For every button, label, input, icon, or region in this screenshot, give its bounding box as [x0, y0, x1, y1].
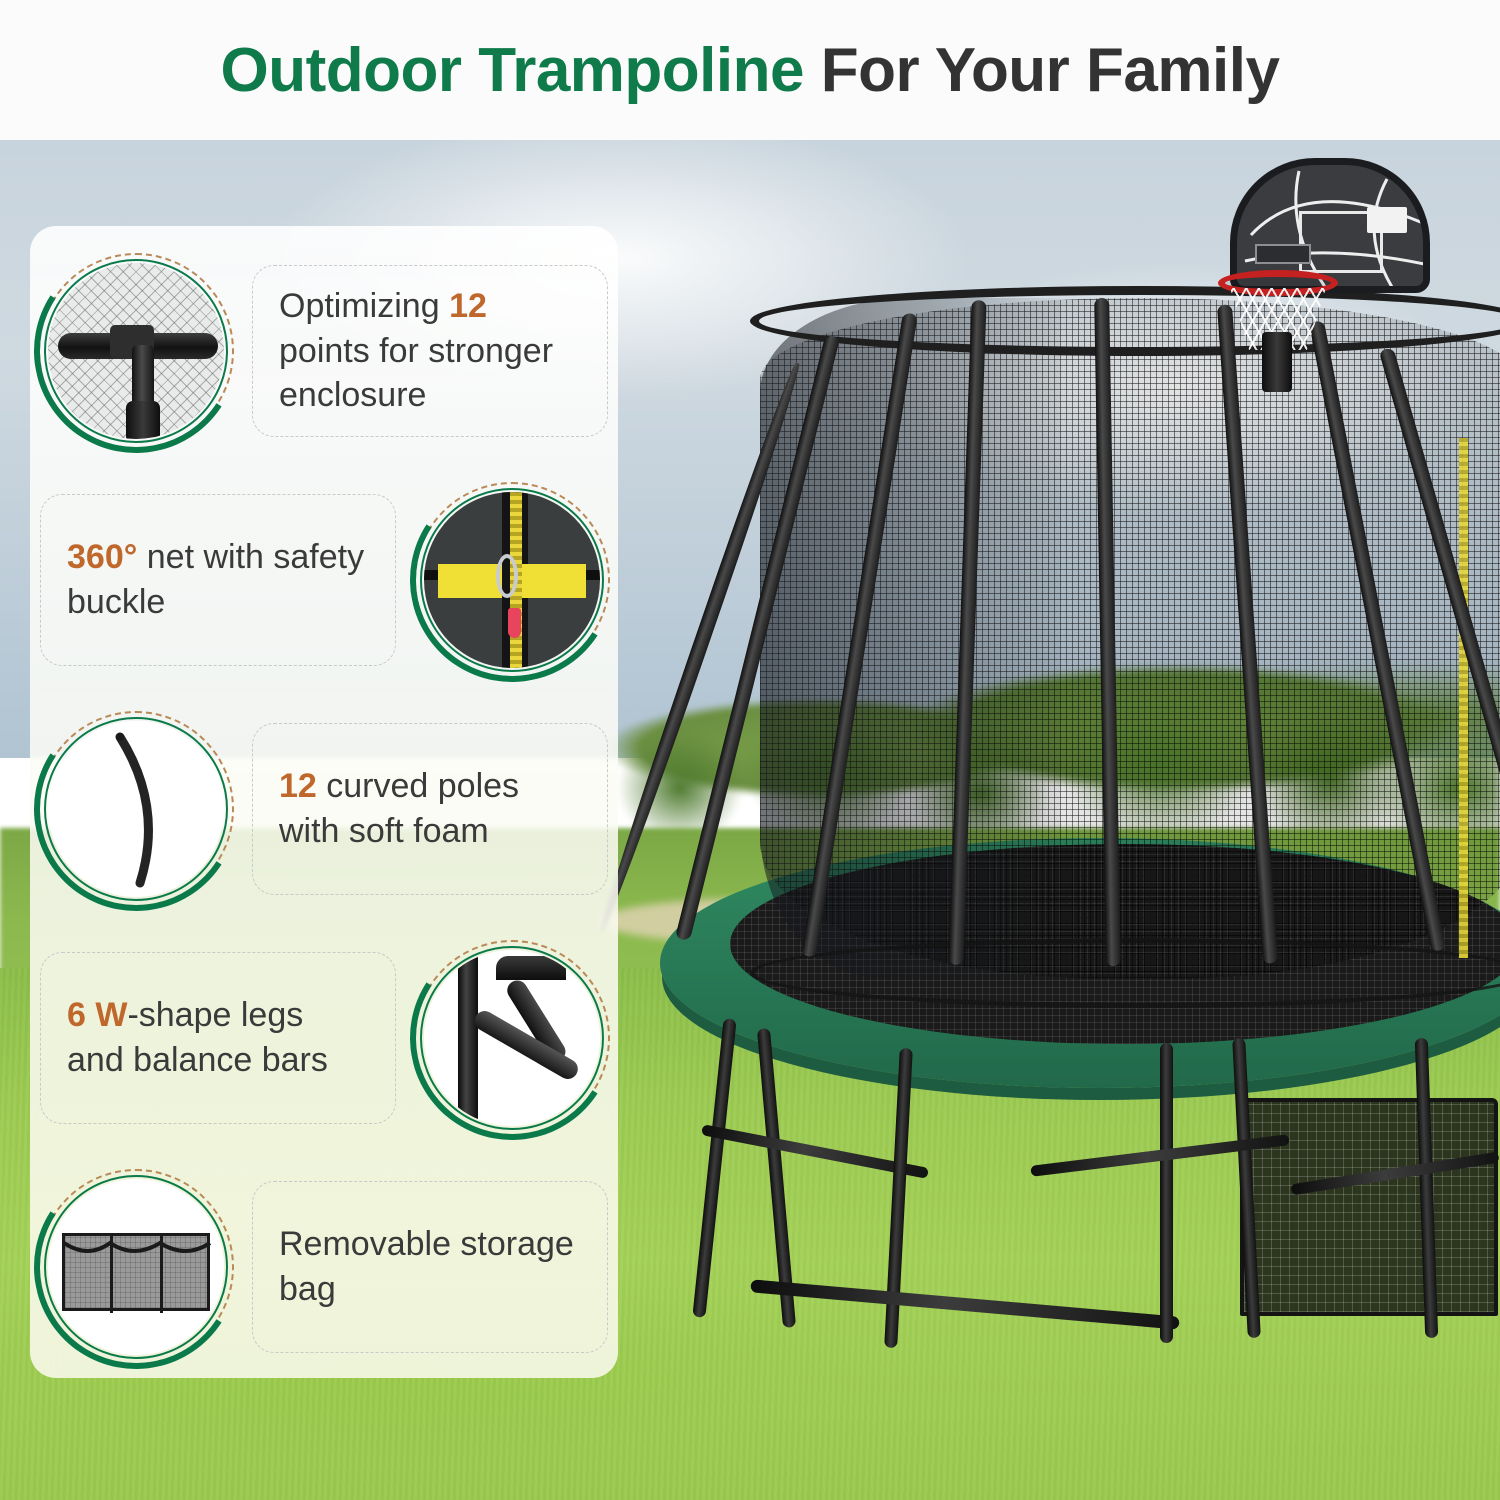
- feature-accent-number: 12: [279, 767, 317, 805]
- metal-d-ring: [496, 554, 518, 598]
- net-zipper-strip: [1459, 438, 1468, 958]
- feature-image-safety-net: [412, 480, 612, 680]
- feature-panel: Optimizing 12 points for stronger enclos…: [30, 226, 618, 1378]
- balance-bar: [750, 1279, 1179, 1329]
- feature-text-enclosure-points: Optimizing 12 points for stronger enclos…: [279, 284, 581, 419]
- feature-image-w-shape-legs: [412, 938, 612, 1138]
- yellow-strap-right: [522, 564, 586, 598]
- feature-text-after: points for stronger enclosure: [279, 332, 553, 415]
- feature-row-enclosure-points: Optimizing 12 points for stronger enclos…: [30, 240, 618, 462]
- basketball-hoop: [1200, 150, 1450, 380]
- buckle-artwork: [424, 492, 600, 668]
- feature-row-curved-poles: 12 curved poles with soft foam: [30, 698, 618, 920]
- feature-text-card-w-shape-legs: 6 W-shape legs and balance bars: [40, 952, 396, 1124]
- w-shape-leg-icon: [424, 950, 600, 1126]
- w-shape-leg: [692, 1018, 736, 1318]
- feature-text-after: Removable storage bag: [279, 1225, 574, 1308]
- w-shape-leg: [1160, 1043, 1173, 1343]
- curved-pole-shape: [48, 721, 224, 897]
- trampoline: [600, 138, 1500, 1500]
- yellow-strap-left: [438, 564, 502, 598]
- zipper-pull: [508, 608, 521, 638]
- storage-bag-artwork: [48, 1179, 224, 1355]
- feature-image-enclosure-points: [36, 251, 236, 451]
- leg-vertical-post: [458, 954, 478, 1122]
- curved-pole-icon: [48, 721, 224, 897]
- leg-hook-top: [496, 956, 566, 980]
- w-leg-artwork: [424, 950, 600, 1126]
- zipper-safety-buckle-icon: [424, 492, 600, 668]
- page-title: Outdoor Trampoline For Your Family: [221, 35, 1280, 106]
- feature-text-card-safety-net: 360° net with safety buckle: [40, 494, 396, 666]
- feature-text-before: Optimizing: [279, 287, 449, 325]
- feature-image-storage-bag: [36, 1167, 236, 1367]
- feature-row-storage-bag: Removable storage bag: [30, 1156, 618, 1378]
- feature-accent-number: 12: [449, 287, 487, 325]
- feature-text-w-shape-legs: 6 W-shape legs and balance bars: [67, 993, 369, 1083]
- feature-text-safety-net: 360° net with safety buckle: [67, 535, 369, 625]
- t-bracket-artwork: [48, 263, 224, 439]
- feature-row-safety-net: 360° net with safety buckle: [30, 469, 618, 691]
- infographic-canvas: Outdoor Trampoline For Your Family: [0, 0, 1500, 1500]
- t-bracket-joint-icon: [48, 263, 224, 439]
- backboard-brand-label: [1367, 207, 1407, 233]
- feature-row-w-shape-legs: 6 W-shape legs and balance bars: [30, 927, 618, 1149]
- storage-bag-scallop-edge: [48, 1179, 224, 1355]
- enclosure-bottom-rim: [750, 938, 1500, 1008]
- feature-accent-number: 6 W: [67, 996, 127, 1034]
- storage-bag-icon: [48, 1179, 224, 1355]
- page-title-green: Outdoor Trampoline: [221, 36, 804, 105]
- feature-text-card-enclosure-points: Optimizing 12 points for stronger enclos…: [252, 265, 608, 437]
- storage-bag: [1240, 1098, 1498, 1316]
- feature-text-card-storage-bag: Removable storage bag: [252, 1181, 608, 1353]
- bracket-foam-cuff: [126, 401, 160, 439]
- page-title-dark: For Your Family: [804, 36, 1279, 105]
- feature-text-curved-poles: 12 curved poles with soft foam: [279, 764, 581, 854]
- feature-text-card-curved-poles: 12 curved poles with soft foam: [252, 723, 608, 895]
- hoop-mounting-arm: [1262, 332, 1292, 392]
- header: Outdoor Trampoline For Your Family: [0, 0, 1500, 140]
- feature-text-storage-bag: Removable storage bag: [279, 1222, 581, 1312]
- feature-accent-number: 360°: [67, 538, 137, 576]
- feature-image-curved-poles: [36, 709, 236, 909]
- curved-pole-artwork: [48, 721, 224, 897]
- backboard-warning-plate: [1255, 244, 1311, 264]
- enclosure-net-shading: [760, 298, 1060, 978]
